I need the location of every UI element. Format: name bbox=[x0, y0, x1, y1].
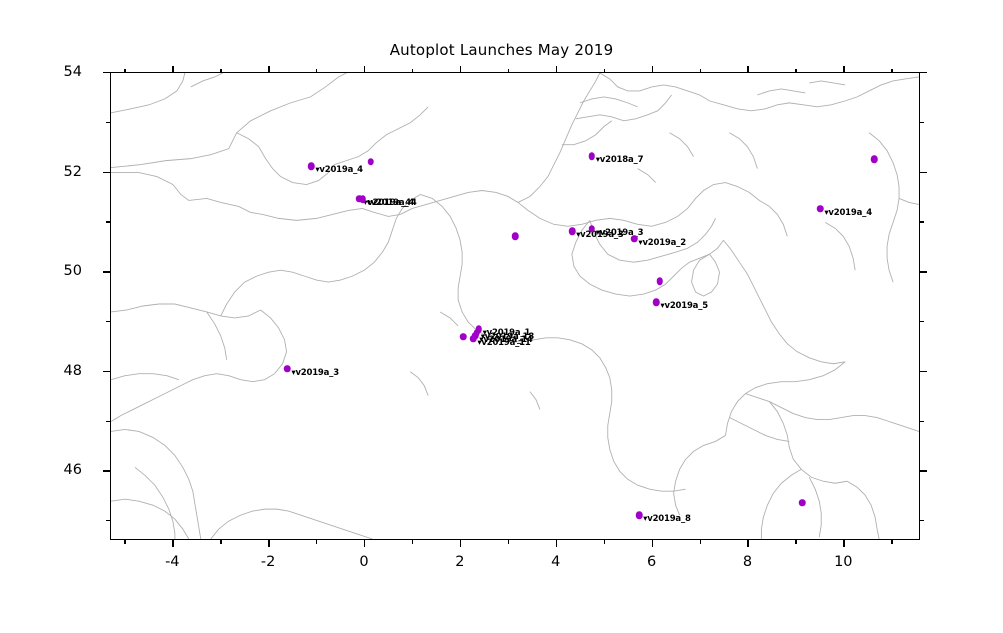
y-axis-minor-tick bbox=[920, 520, 924, 521]
x-axis-minor-tick bbox=[508, 540, 509, 544]
x-axis-major-tick bbox=[172, 66, 173, 73]
scatter-point bbox=[470, 335, 477, 343]
scatter-point bbox=[871, 155, 878, 163]
x-axis-major-tick bbox=[652, 540, 653, 547]
scatter-point-label: ▾v2019a_3 bbox=[291, 368, 339, 378]
y-axis-major-tick bbox=[920, 72, 927, 73]
x-axis-minor-tick bbox=[604, 540, 605, 544]
scatter-point bbox=[657, 277, 664, 285]
figure-canvas: Autoplot Launches May 2019 bbox=[0, 0, 1003, 633]
x-axis-minor-tick bbox=[508, 69, 509, 73]
y-axis-minor-tick bbox=[920, 421, 924, 422]
x-axis-major-tick bbox=[268, 66, 269, 73]
y-axis-minor-tick bbox=[920, 221, 924, 222]
x-axis-tick-label: -4 bbox=[165, 554, 179, 570]
y-axis-major-tick bbox=[920, 371, 927, 372]
x-axis-major-tick bbox=[460, 540, 461, 547]
x-axis-major-tick bbox=[843, 66, 844, 73]
y-axis-major-tick bbox=[920, 271, 927, 272]
x-axis-tick-label: 10 bbox=[834, 554, 852, 570]
y-axis-major-tick bbox=[103, 172, 110, 173]
y-axis-minor-tick bbox=[106, 221, 110, 222]
x-axis-major-tick bbox=[843, 540, 844, 547]
page-title: Autoplot Launches May 2019 bbox=[0, 41, 1003, 59]
scatter-point bbox=[653, 298, 660, 306]
x-axis-major-tick bbox=[172, 540, 173, 547]
x-axis-tick-label: 6 bbox=[647, 554, 656, 570]
x-axis-minor-tick bbox=[891, 69, 892, 73]
x-axis-minor-tick bbox=[412, 69, 413, 73]
x-axis-minor-tick bbox=[316, 540, 317, 544]
x-axis-major-tick bbox=[556, 66, 557, 73]
x-axis-tick-label: 0 bbox=[359, 554, 368, 570]
y-axis-tick-label: 52 bbox=[22, 164, 82, 180]
scatter-point-label: ▾v2018a_7 bbox=[596, 155, 644, 165]
y-axis-minor-tick bbox=[920, 321, 924, 322]
scatter-point-label: ▾v2019a_4 bbox=[824, 208, 872, 218]
y-axis-major-tick bbox=[920, 470, 927, 471]
x-axis-major-tick bbox=[364, 540, 365, 547]
x-axis-minor-tick bbox=[220, 69, 221, 73]
x-axis-major-tick bbox=[747, 66, 748, 73]
scatter-point bbox=[636, 511, 643, 519]
y-axis-minor-tick bbox=[106, 122, 110, 123]
scatter-point bbox=[284, 365, 291, 373]
scatter-point bbox=[817, 205, 824, 213]
y-axis-major-tick bbox=[103, 470, 110, 471]
x-axis-minor-tick bbox=[316, 69, 317, 73]
x-axis-minor-tick bbox=[124, 540, 125, 544]
x-axis-minor-tick bbox=[891, 540, 892, 544]
x-axis-minor-tick bbox=[604, 69, 605, 73]
scatter-point bbox=[588, 225, 595, 233]
x-axis-tick-label: 2 bbox=[455, 554, 464, 570]
scatter-point bbox=[359, 196, 366, 204]
x-axis-major-tick bbox=[268, 540, 269, 547]
scatter-point bbox=[588, 152, 595, 160]
scatter-point bbox=[569, 228, 576, 236]
scatter-point bbox=[512, 233, 519, 241]
y-axis-minor-tick bbox=[106, 421, 110, 422]
scatter-points-layer: ▾v2019a_4▾v2019a_44▾v2019a_4▾v2018a_7▾v2… bbox=[111, 73, 919, 539]
x-axis-minor-tick bbox=[412, 540, 413, 544]
y-axis-major-tick bbox=[103, 371, 110, 372]
y-axis-major-tick bbox=[103, 271, 110, 272]
scatter-point-label: ▾v2019a_5 bbox=[660, 301, 708, 311]
x-axis-minor-tick bbox=[124, 69, 125, 73]
y-axis-major-tick bbox=[920, 172, 927, 173]
x-axis-major-tick bbox=[460, 66, 461, 73]
x-axis-tick-label: -2 bbox=[261, 554, 275, 570]
x-axis-major-tick bbox=[364, 66, 365, 73]
scatter-point bbox=[460, 333, 467, 341]
y-axis-tick-label: 54 bbox=[22, 64, 82, 80]
x-axis-tick-label: 8 bbox=[743, 554, 752, 570]
x-axis-minor-tick bbox=[700, 540, 701, 544]
scatter-point bbox=[631, 235, 638, 243]
x-axis-minor-tick bbox=[700, 69, 701, 73]
y-axis-minor-tick bbox=[106, 321, 110, 322]
x-axis-major-tick bbox=[652, 66, 653, 73]
x-axis-major-tick bbox=[556, 540, 557, 547]
y-axis-minor-tick bbox=[920, 122, 924, 123]
scatter-point-label: ▾v2019a_4 bbox=[315, 165, 363, 175]
scatter-point bbox=[799, 499, 806, 507]
scatter-point-label: ▾v2019a_2 bbox=[638, 238, 686, 248]
plot-axes-area[interactable]: ▾v2019a_4▾v2019a_44▾v2019a_4▾v2018a_7▾v2… bbox=[110, 72, 920, 540]
scatter-point-label: ▾v2019a_11 bbox=[477, 338, 530, 348]
x-axis-minor-tick bbox=[795, 69, 796, 73]
y-axis-tick-label: 48 bbox=[22, 363, 82, 379]
x-axis-minor-tick bbox=[795, 540, 796, 544]
scatter-point bbox=[308, 162, 315, 170]
scatter-point-label: ▾v2019a_8 bbox=[643, 514, 691, 524]
scatter-point-label: ▾v2019a_4 bbox=[367, 198, 415, 208]
x-axis-major-tick bbox=[747, 540, 748, 547]
y-axis-tick-label: 50 bbox=[22, 263, 82, 279]
x-axis-tick-label: 4 bbox=[551, 554, 560, 570]
x-axis-minor-tick bbox=[220, 540, 221, 544]
y-axis-major-tick bbox=[103, 72, 110, 73]
y-axis-tick-label: 46 bbox=[22, 462, 82, 478]
y-axis-minor-tick bbox=[106, 520, 110, 521]
scatter-point bbox=[368, 158, 375, 166]
